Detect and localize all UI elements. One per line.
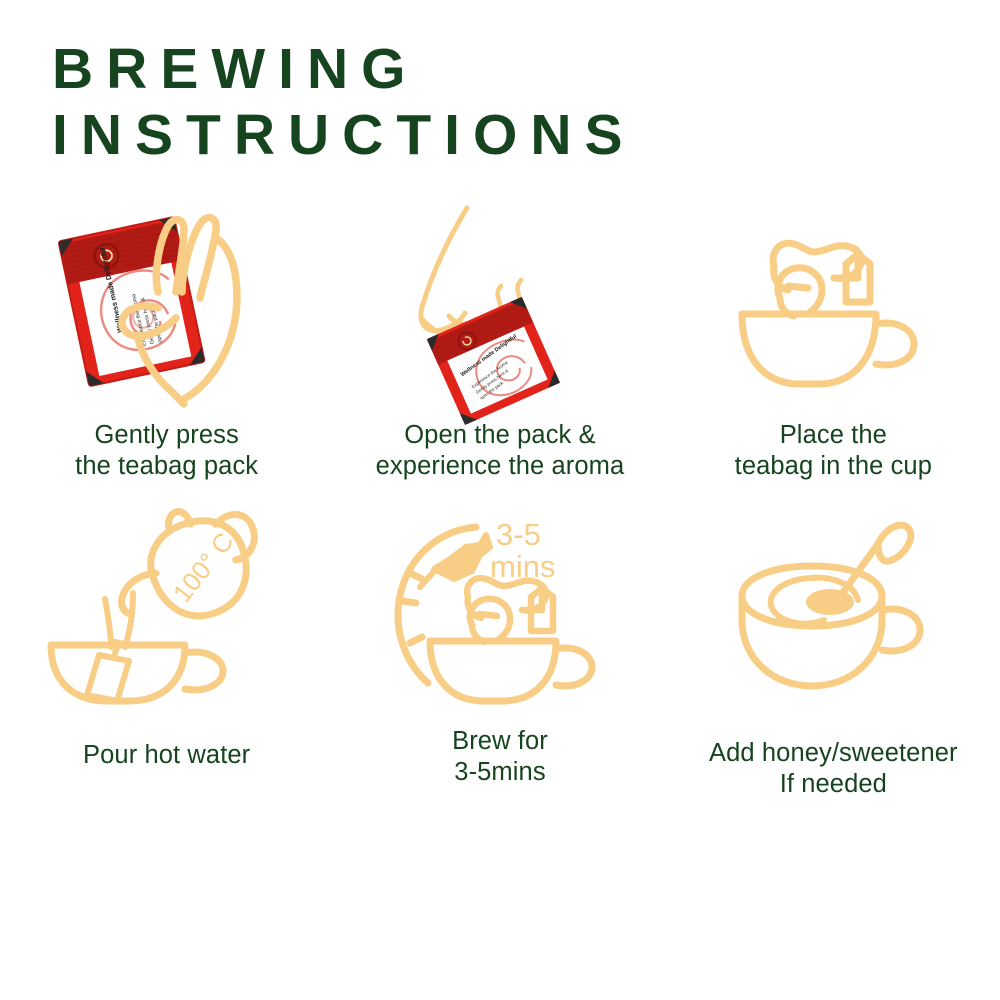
kettle-pouring-hot-water-icon: 100° C <box>37 498 297 712</box>
step-place-teabag: Place the teabag in the cup <box>667 196 1000 498</box>
step-add-sweetener: Add honey/sweetener If needed <box>667 498 1000 800</box>
kettle-temperature-badge: 100° C <box>166 526 239 607</box>
brew-time-badge-line-1: 3-5 <box>496 517 541 552</box>
step-caption: Gently press the teabag pack <box>75 420 258 482</box>
brewing-instructions-page: BREWING INSTRUCTIONS <box>0 0 1000 1000</box>
step-open-pack: Wellness made Delightful Experience the … <box>333 196 666 498</box>
step-caption: Place the teabag in the cup <box>735 420 932 482</box>
cup-with-spoon-stirring-icon <box>703 498 963 712</box>
step-caption: Pour hot water <box>83 740 250 771</box>
page-title-line-2: INSTRUCTIONS <box>52 102 952 168</box>
nose-smelling-aroma-icon: Wellness made Delightful Experience the … <box>370 196 630 408</box>
step-caption: Add honey/sweetener If needed <box>709 738 958 800</box>
step-gently-press: Wellness made Delightful Experience the … <box>0 196 333 498</box>
step-brew-time: 3-5 mins <box>333 498 666 800</box>
hand-pressing-teabag-pack-icon: Wellness made Delightful Experience the … <box>37 196 297 408</box>
hand-placing-teabag-in-cup-icon <box>703 196 963 408</box>
steps-grid: Wellness made Delightful Experience the … <box>0 196 1000 800</box>
step-caption: Brew for 3-5mins <box>452 726 548 788</box>
page-title-line-1: BREWING <box>52 36 952 102</box>
step-pour-hot-water: 100° C <box>0 498 333 800</box>
page-title: BREWING INSTRUCTIONS <box>52 36 952 168</box>
step-caption: Open the pack & experience the aroma <box>376 420 625 482</box>
timer-brewing-cup-icon: 3-5 mins <box>370 498 630 712</box>
